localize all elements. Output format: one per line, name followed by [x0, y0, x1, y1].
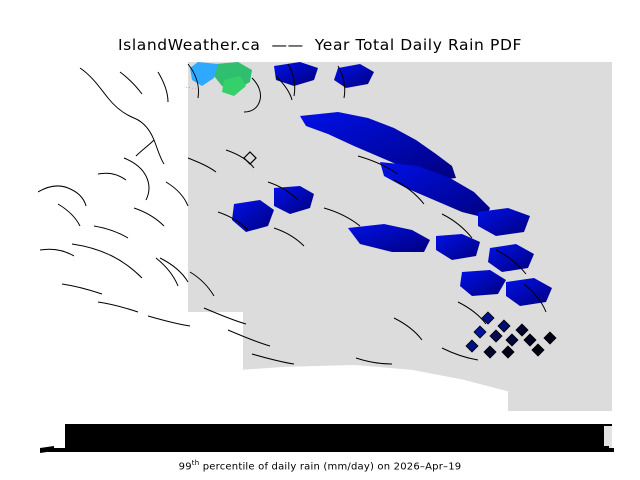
colorbar-caption: 99th percentile of daily rain (mm/day) o…: [0, 459, 640, 472]
colorbar-axis-strip: [48, 448, 614, 452]
page-title: IslandWeather.ca —— Year Total Daily Rai…: [0, 36, 640, 54]
caption-date: 2026–Apr–19: [394, 461, 462, 472]
caption-middle-text: percentile of daily rain (mm/day) on: [199, 461, 393, 472]
caption-percentile-number: 99: [179, 461, 192, 472]
map-plot-panel[interactable]: [38, 62, 612, 411]
rain-field-layer: [38, 62, 612, 411]
colorbar-tick-right: [600, 446, 609, 452]
colorbar-end-cap: [604, 426, 612, 448]
colorbar[interactable]: [65, 424, 612, 448]
domain-west-edge-strip: [184, 62, 194, 362]
app-root: IslandWeather.ca —— Year Total Daily Rai…: [0, 0, 640, 480]
